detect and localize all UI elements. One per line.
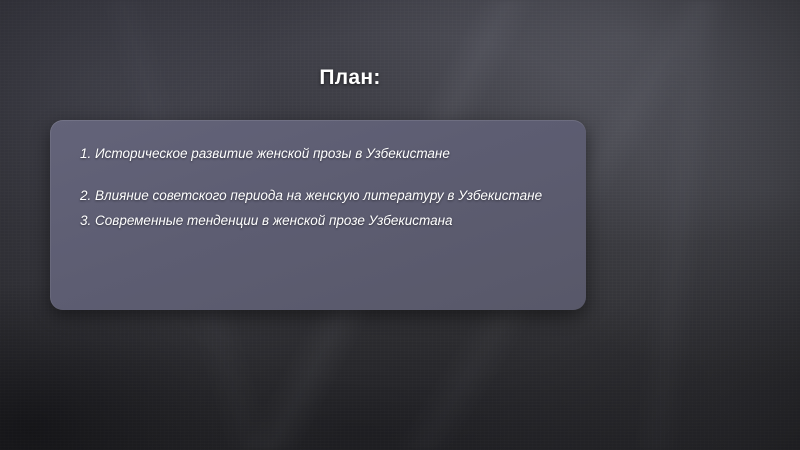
plan-card: 1. Историческое развитие женской прозы в… <box>50 120 586 310</box>
plan-item-3: 3. Современные тенденции в женской прозе… <box>80 211 560 230</box>
slide-title: План: <box>0 66 700 90</box>
plan-item-1: 1. Историческое развитие женской прозы в… <box>80 144 560 163</box>
plan-item-2: 2. Влияние советского периода на женскую… <box>80 186 560 205</box>
presentation-slide: План: 1. Историческое развитие женской п… <box>0 0 800 450</box>
